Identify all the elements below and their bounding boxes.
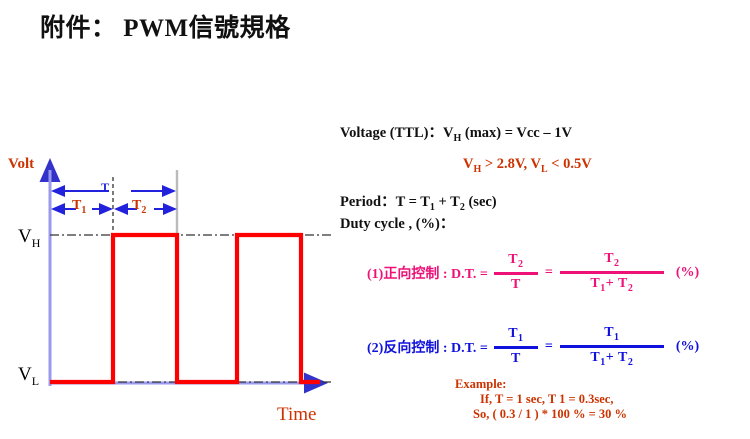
formula-reverse-percent: (%) — [676, 339, 699, 355]
example-heading: Example: — [455, 377, 506, 392]
formula-forward-control: (1)正向控制 : D.T. = T2 T = T2 T1+ T2 (%) — [367, 252, 699, 294]
formula-forward-lead: (1)正向控制 : D.T. = — [367, 263, 488, 283]
formula-forward-equals: = — [545, 265, 553, 281]
formula-reverse-frac1-denominator: T — [511, 349, 521, 366]
formula-reverse-frac2-denominator: T1+ T2 — [590, 348, 633, 368]
formula-reverse-control: (2)反向控制 : D.T. = T1 T = T1 T1+ T2 (%) — [367, 326, 699, 368]
formula-reverse-fraction-2: T1 T1+ T2 — [560, 326, 664, 368]
spec-levels-line: VH > 2.8V, VL < 0.5V — [463, 156, 592, 175]
pwm-signal-trace — [50, 235, 320, 382]
example-line-2: So, ( 0.3 / 1 ) * 100 % = 30 % — [473, 407, 627, 422]
page-title: 附件： PWM信號規格 — [40, 8, 291, 44]
formula-forward-frac1-numerator: T2 — [508, 253, 523, 272]
formula-forward-frac1-denominator: T — [511, 275, 521, 292]
spec-duty-cycle-heading: Duty cycle , (%)： — [340, 212, 454, 233]
example-line-1: If, T = 1 sec, T 1 = 0.3sec, — [480, 392, 613, 407]
formula-reverse-fraction-1: T1 T — [494, 327, 538, 366]
formula-reverse-lead: (2)反向控制 : D.T. = — [367, 337, 488, 357]
t2-label: T2 — [132, 198, 146, 216]
formula-reverse-equals: = — [545, 339, 553, 355]
period-label: T — [101, 180, 109, 195]
pwm-waveform-diagram — [0, 150, 340, 439]
spec-voltage-line: Voltage (TTL)：VH (max) = Vcc – 1V — [340, 121, 572, 144]
level-low-label: VL — [18, 364, 39, 389]
formula-reverse-frac2-numerator: T1 — [604, 326, 619, 345]
level-high-label: VH — [18, 226, 40, 251]
spec-period-line: Period：T = T1 + T2 (sec) — [340, 190, 497, 213]
formula-forward-frac2-numerator: T2 — [604, 252, 619, 271]
formula-forward-percent: (%) — [676, 265, 699, 281]
waveform-svg — [0, 150, 340, 439]
t1-label: T1 — [72, 198, 86, 216]
formula-forward-fraction-1: T2 T — [494, 253, 538, 292]
x-axis-label: Time — [277, 404, 316, 426]
formula-reverse-frac1-numerator: T1 — [508, 327, 523, 346]
y-axis-label: Volt — [8, 156, 34, 173]
formula-forward-fraction-2: T2 T1+ T2 — [560, 252, 664, 294]
formula-forward-frac2-denominator: T1+ T2 — [590, 274, 633, 294]
